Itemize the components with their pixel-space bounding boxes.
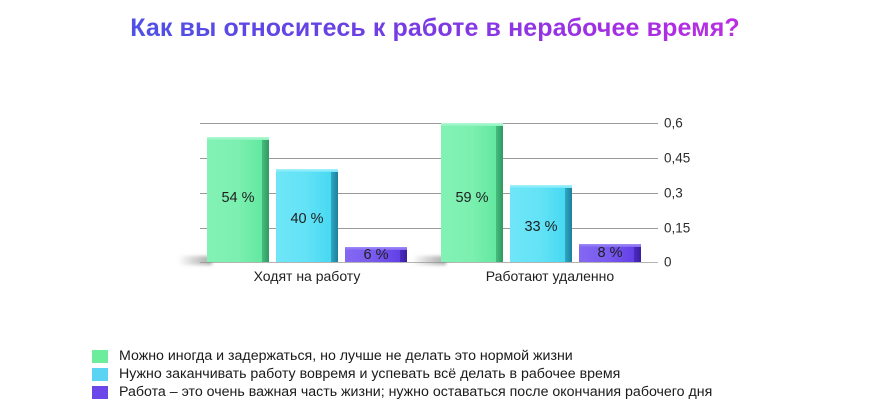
legend-item-1[interactable]: Можно иногда и задержаться, но лучше не …	[92, 347, 852, 365]
ytick-label-0.15: 0,15	[664, 221, 690, 236]
category-label-2: Работают удаленно	[420, 268, 680, 284]
bar-value-group2-series2: 33 %	[510, 219, 572, 235]
ytick-label-0.3: 0,3	[664, 186, 683, 201]
bar-cap	[207, 137, 269, 140]
ytick-label-0.45: 0,45	[664, 151, 690, 166]
bar-value-group1-series1: 54 %	[207, 190, 269, 206]
legend-item-2[interactable]: Нужно заканчивать работу вовремя и успев…	[92, 365, 852, 383]
legend-label-2: Нужно заканчивать работу вовремя и успев…	[119, 366, 620, 382]
bar-cap	[276, 169, 338, 172]
chart-plot-area: 0,6 0,45 0,3 0,15 0 54 % 40 % 6 % Ходят …	[0, 0, 870, 300]
legend-item-3[interactable]: Работа – это очень важная часть жизни; н…	[92, 383, 852, 401]
bar-value-group1-series2: 40 %	[276, 211, 338, 227]
legend-swatch-purple	[92, 386, 108, 399]
category-label-1: Ходят на работу	[177, 268, 437, 284]
bar-value-group2-series1: 59 %	[441, 190, 503, 206]
ytick-label-0.6: 0,6	[664, 116, 683, 131]
bar-cap	[510, 185, 572, 188]
bar-value-group1-series3: 6 %	[345, 247, 407, 263]
legend-label-3: Работа – это очень важная часть жизни; н…	[119, 384, 712, 400]
bar-cap	[441, 123, 503, 126]
chart-legend: Можно иногда и задержаться, но лучше не …	[92, 347, 852, 401]
gridline-0.6	[200, 123, 658, 124]
bar-value-group2-series3: 8 %	[579, 245, 641, 261]
legend-swatch-green	[92, 350, 108, 363]
legend-label-1: Можно иногда и задержаться, но лучше не …	[119, 348, 573, 364]
legend-swatch-cyan	[92, 368, 108, 381]
